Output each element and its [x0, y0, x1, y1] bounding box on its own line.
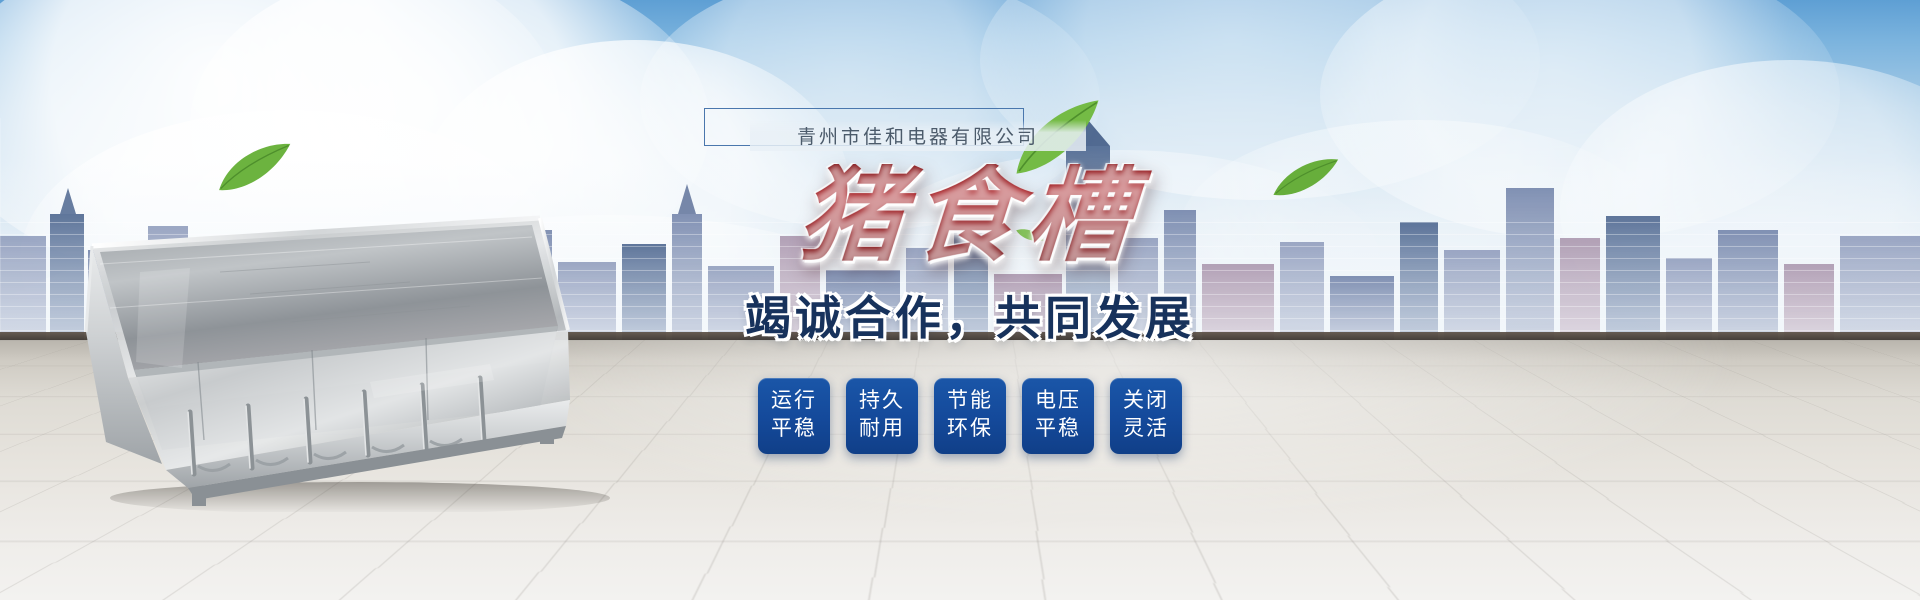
feature-badge[interactable]: 电压 平稳 — [1022, 378, 1094, 453]
feature-badge[interactable]: 节能 环保 — [934, 378, 1006, 453]
company-name: 青州市佳和电器有限公司 — [750, 120, 1086, 151]
feature-badge-list: 运行 平稳 持久 耐用 节能 环保 电压 平稳 关闭 灵活 — [690, 378, 1250, 453]
feature-badge-line2: 平稳 — [1022, 415, 1094, 443]
feature-badge-line2: 耐用 — [846, 415, 918, 443]
product-image-pig-feeding-trough — [70, 212, 630, 512]
page-title: 猪食槽 — [686, 164, 1253, 270]
feature-badge-line1: 节能 — [934, 387, 1006, 415]
feature-badge-line1: 关闭 — [1110, 387, 1182, 415]
feature-badge[interactable]: 持久 耐用 — [846, 378, 918, 453]
feature-badge-line2: 环保 — [934, 415, 1006, 443]
banner-subtitle: 竭诚合作，共同发展 — [690, 282, 1250, 348]
feature-badge-line1: 电压 — [1022, 387, 1094, 415]
feature-badge-line1: 运行 — [758, 387, 830, 415]
feature-badge-line2: 平稳 — [758, 415, 830, 443]
feature-badge[interactable]: 运行 平稳 — [758, 378, 830, 453]
feature-badge[interactable]: 关闭 灵活 — [1110, 378, 1182, 453]
feature-badge-line1: 持久 — [846, 387, 918, 415]
promo-banner: 青州市佳和电器有限公司 猪食槽 竭诚合作，共同发展 运行 平稳 持久 耐用 节能… — [0, 0, 1920, 600]
banner-copy: 青州市佳和电器有限公司 猪食槽 竭诚合作，共同发展 运行 平稳 持久 耐用 节能… — [690, 96, 1250, 454]
company-line: 青州市佳和电器有限公司 — [690, 96, 1250, 158]
feature-badge-line2: 灵活 — [1110, 415, 1182, 443]
